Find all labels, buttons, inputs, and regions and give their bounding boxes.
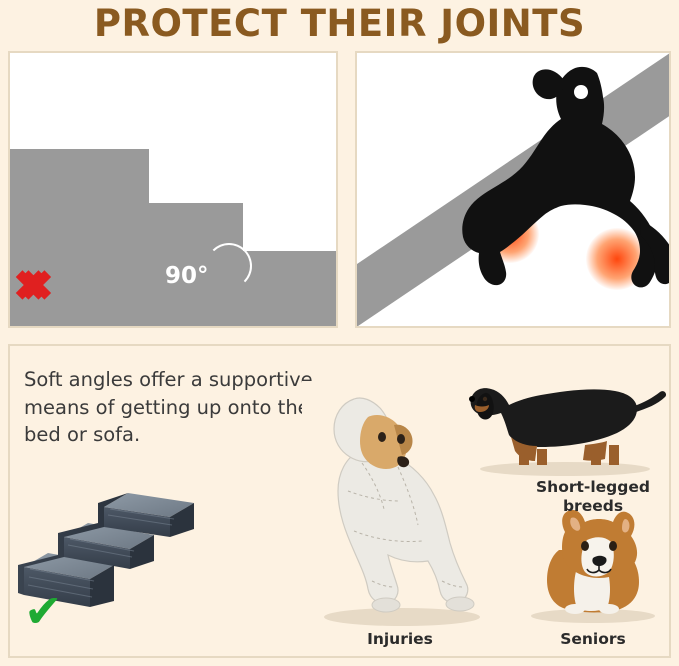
panel-steep-stairs: 90°	[8, 51, 338, 328]
photo-dog-in-recovery-suit	[302, 381, 492, 631]
solution-description: Soft angles offer a supportive means of …	[24, 366, 324, 449]
angle-label: 90°	[165, 263, 209, 289]
caption-injuries: Injuries	[340, 630, 460, 649]
page-title: PROTECT THEIR JOINTS	[0, 2, 679, 45]
photo-dachshund	[465, 361, 670, 481]
panel-solution: Soft angles offer a supportive means of …	[8, 344, 671, 658]
infographic-page: PROTECT THEIR JOINTS 90° ✖ ✖ Soft angles…	[0, 0, 679, 666]
stair-step-upper	[10, 149, 149, 229]
panel-steep-ramp	[355, 51, 671, 328]
caption-short-legged-breeds: Short-legged breeds	[518, 478, 668, 517]
photo-corgi	[515, 506, 670, 624]
angle-arc-icon	[206, 243, 252, 289]
check-icon-solution: ✔	[24, 588, 63, 634]
cross-icon-ramp: ✖	[18, 265, 55, 309]
dog-silhouette-icon	[445, 65, 671, 305]
caption-seniors: Seniors	[523, 630, 663, 649]
